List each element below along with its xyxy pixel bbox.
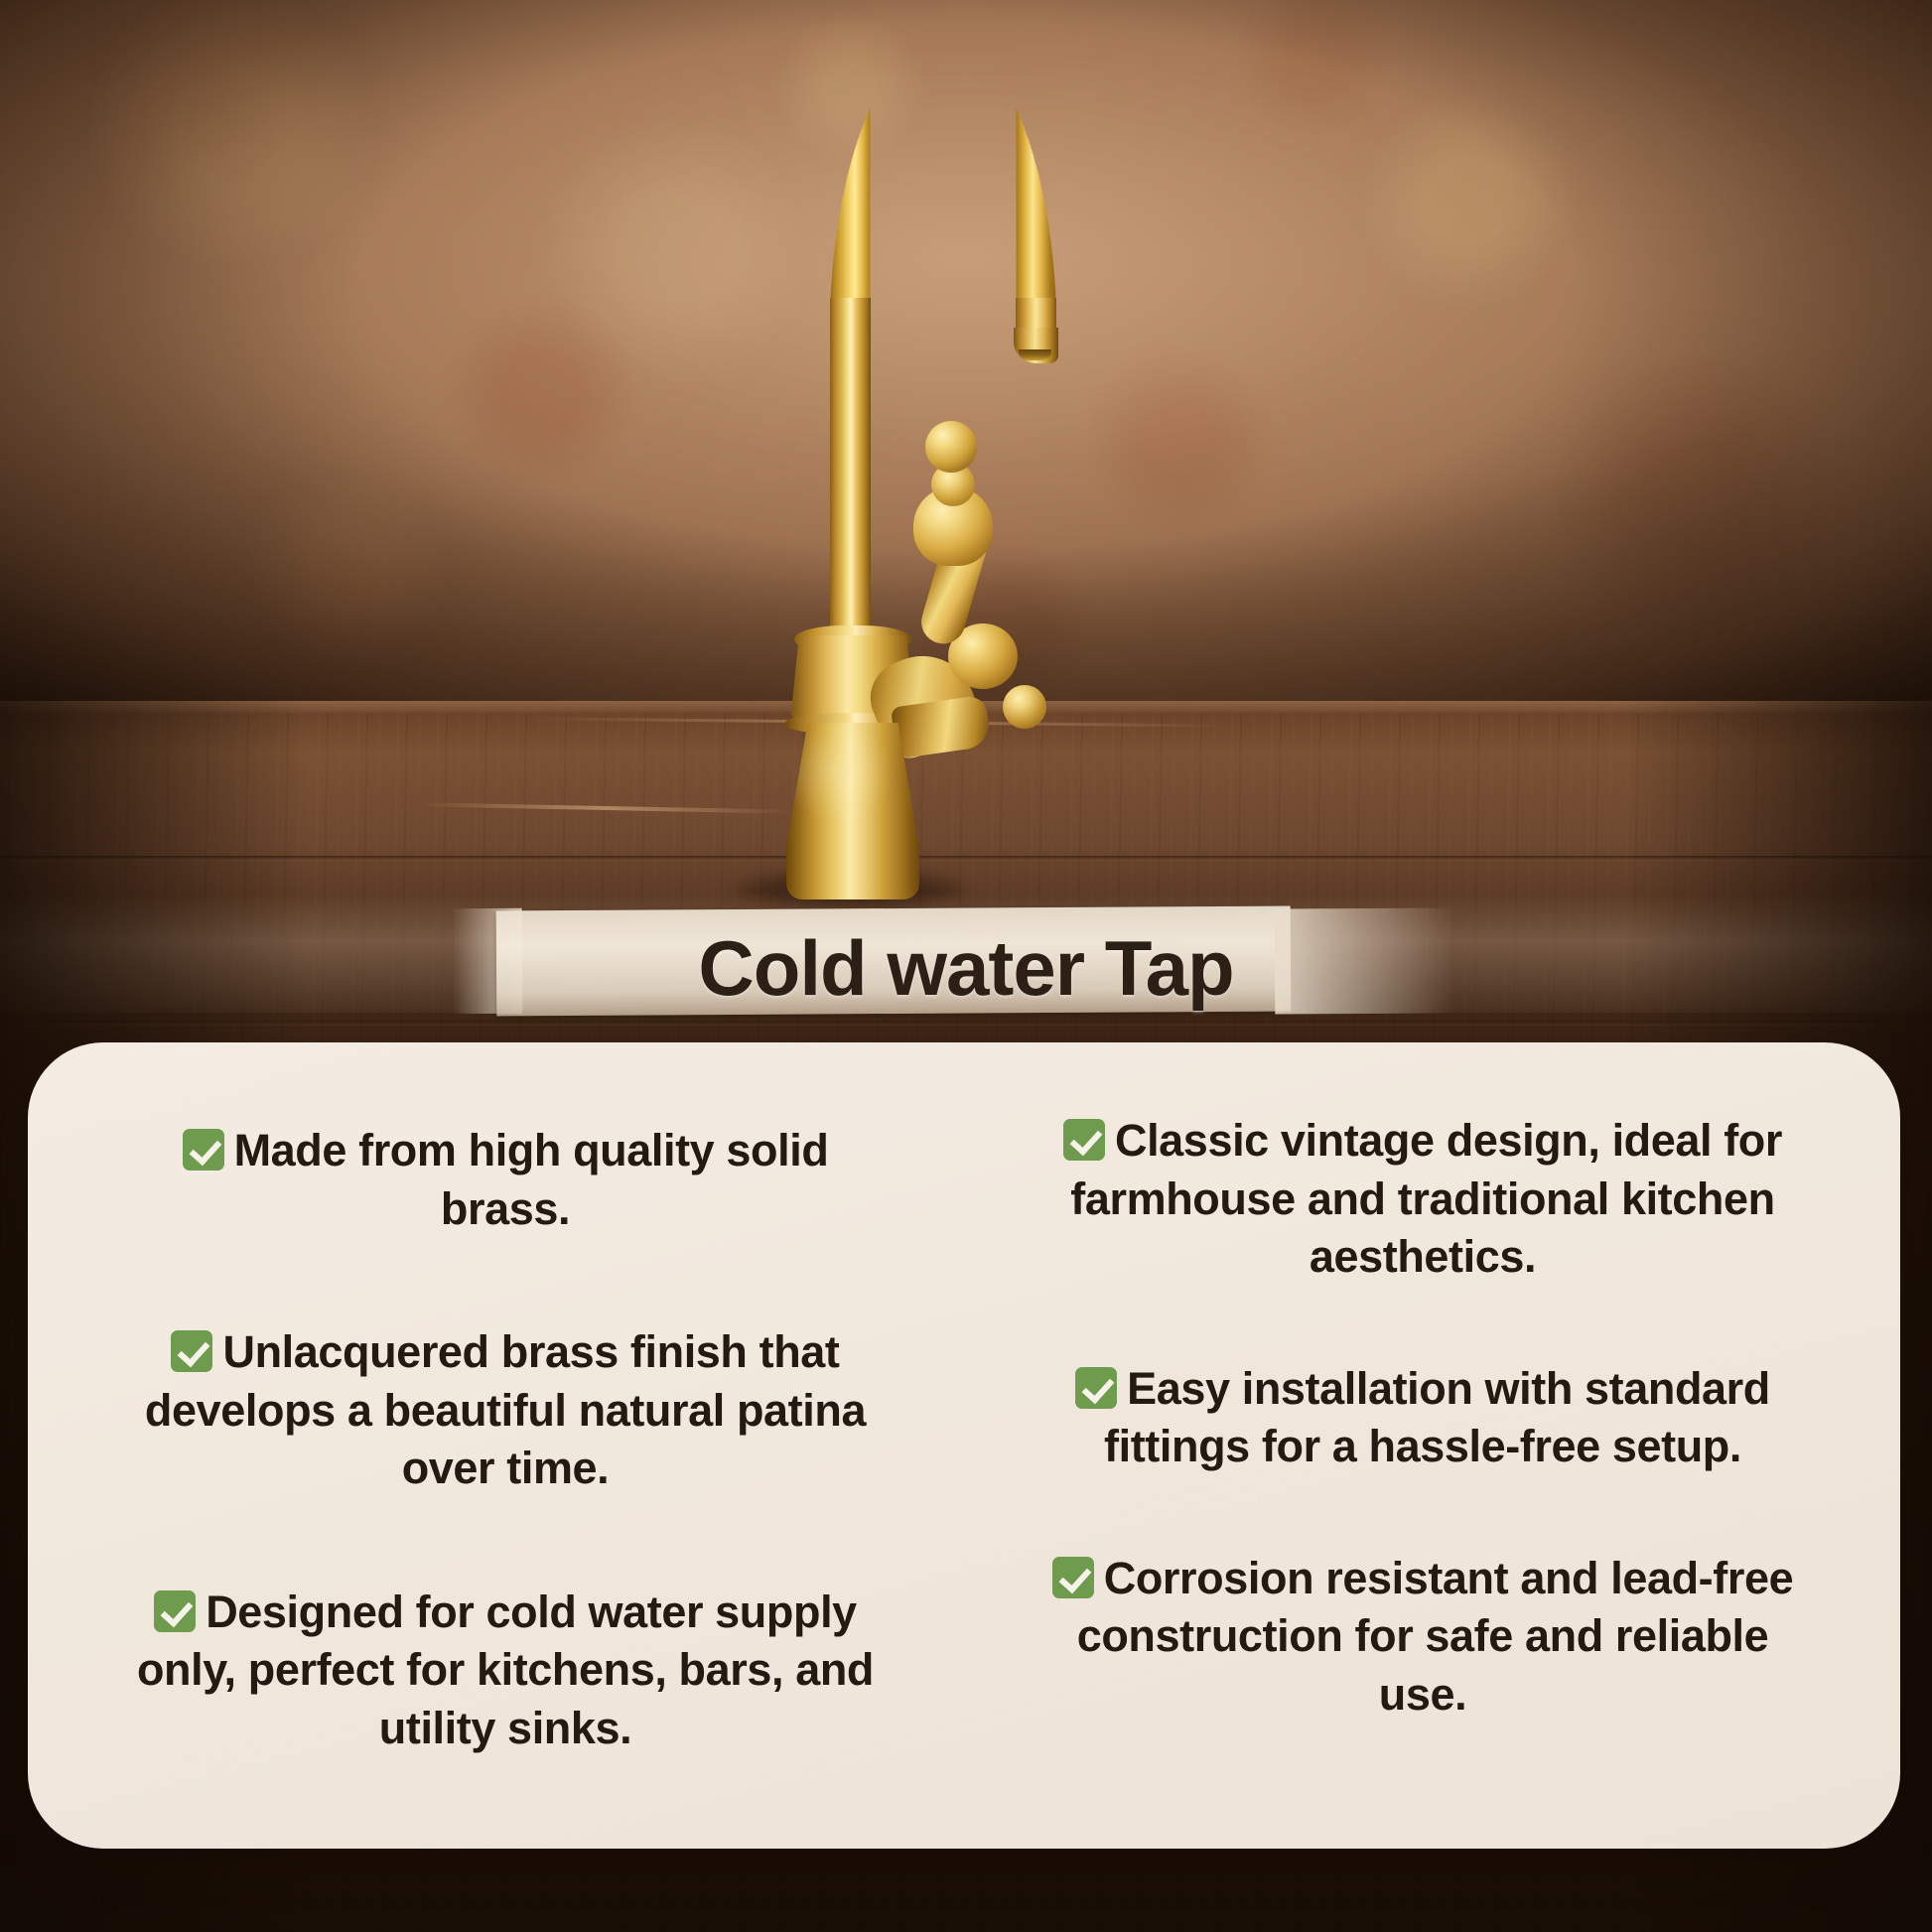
faucet-handle-stub (1003, 685, 1046, 729)
faucet-body-highlight (786, 723, 919, 899)
feature-text: Easy installation with standard fittings… (1104, 1363, 1770, 1472)
page-title: Cold water Tap (0, 923, 1932, 1014)
check-icon (183, 1129, 224, 1171)
faucet-handle-finial (925, 421, 977, 473)
feature-item: Unlacquered brass finish that develops a… (118, 1323, 893, 1498)
feature-item: Easy installation with standard fittings… (1035, 1360, 1810, 1476)
features-card: Made from high quality solid brass. Unla… (28, 1042, 1900, 1849)
product-infographic: Cold water Tap Made from high quality so… (0, 0, 1932, 1932)
feature-text: Unlacquered brass finish that develops a… (145, 1326, 866, 1493)
feature-text: Made from high quality solid brass. (234, 1125, 829, 1234)
feature-item: Corrosion resistant and lead-free constr… (1035, 1550, 1810, 1725)
check-icon (1075, 1367, 1117, 1409)
feature-text: Corrosion resistant and lead-free constr… (1077, 1553, 1794, 1720)
feature-text: Classic vintage design, ideal for farmho… (1070, 1115, 1782, 1282)
features-right-column: Classic vintage design, ideal for farmho… (993, 1086, 1853, 1809)
faucet-spout-mouth (1019, 349, 1051, 360)
check-icon (171, 1330, 212, 1372)
feature-item: Made from high quality solid brass. (118, 1122, 893, 1238)
brass-faucet-icon (0, 0, 1932, 953)
feature-item: Designed for cold water supply only, per… (118, 1584, 893, 1758)
feature-item: Classic vintage design, ideal for farmho… (1035, 1112, 1810, 1287)
features-left-column: Made from high quality solid brass. Unla… (75, 1086, 935, 1809)
faucet-riser-tube (830, 298, 871, 635)
check-icon (1052, 1557, 1094, 1598)
faucet-gooseneck-arc (830, 40, 1056, 338)
check-icon (154, 1590, 196, 1632)
feature-text: Designed for cold water supply only, per… (137, 1587, 874, 1753)
check-icon (1063, 1119, 1105, 1161)
